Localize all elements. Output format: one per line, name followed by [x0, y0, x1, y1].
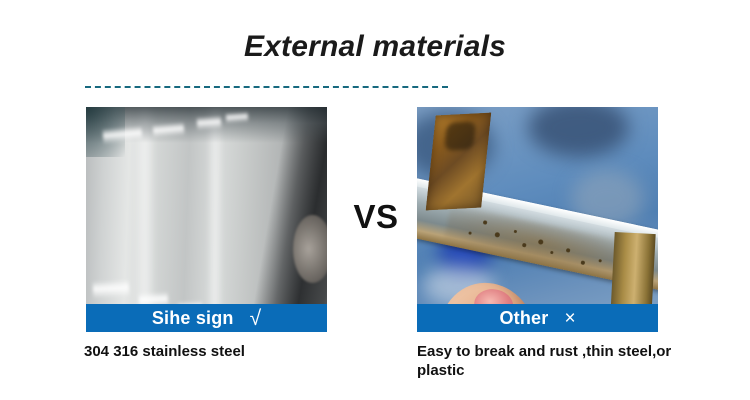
page-title: External materials: [0, 30, 750, 64]
banner-label-left: Sihe sign: [152, 309, 234, 327]
rust-speck: [468, 231, 472, 235]
coil-end-face: [293, 215, 327, 283]
banner-right: Other ×: [417, 304, 658, 332]
comparison-item-left: Sihe sign √: [86, 107, 327, 332]
rusty-broken-metal-bar-photo: [417, 107, 658, 332]
comparison-slide: External materials Sihe sign √ VS: [0, 0, 750, 400]
rust-speck: [598, 258, 602, 262]
coil-highlight: [93, 279, 130, 299]
caption-left: 304 316 stainless steel: [84, 342, 354, 361]
banner-label-right: Other: [499, 309, 548, 327]
caption-right: Easy to break and rust ,thin steel,or pl…: [417, 342, 707, 380]
rust-speck: [565, 248, 570, 253]
banner-left: Sihe sign √: [86, 304, 327, 332]
coil-highlight: [225, 111, 247, 124]
coil-highlight: [153, 121, 185, 137]
comparison-item-right: Other ×: [417, 107, 658, 332]
rust-speck: [482, 219, 487, 224]
stainless-steel-coil-photo: [86, 107, 327, 332]
coil-highlight: [196, 115, 221, 130]
plate-shadow: [445, 121, 477, 151]
cross-mark-icon: ×: [564, 309, 575, 328]
vs-label: VS: [340, 198, 412, 236]
dashed-divider: [85, 86, 448, 88]
rust-speck: [537, 238, 543, 244]
rusty-plate: [426, 112, 492, 209]
check-mark-icon: √: [250, 308, 262, 329]
rust-speck: [550, 251, 554, 255]
rust-speck: [513, 230, 517, 234]
rust-speck: [522, 242, 527, 247]
rust-speck: [580, 259, 585, 264]
